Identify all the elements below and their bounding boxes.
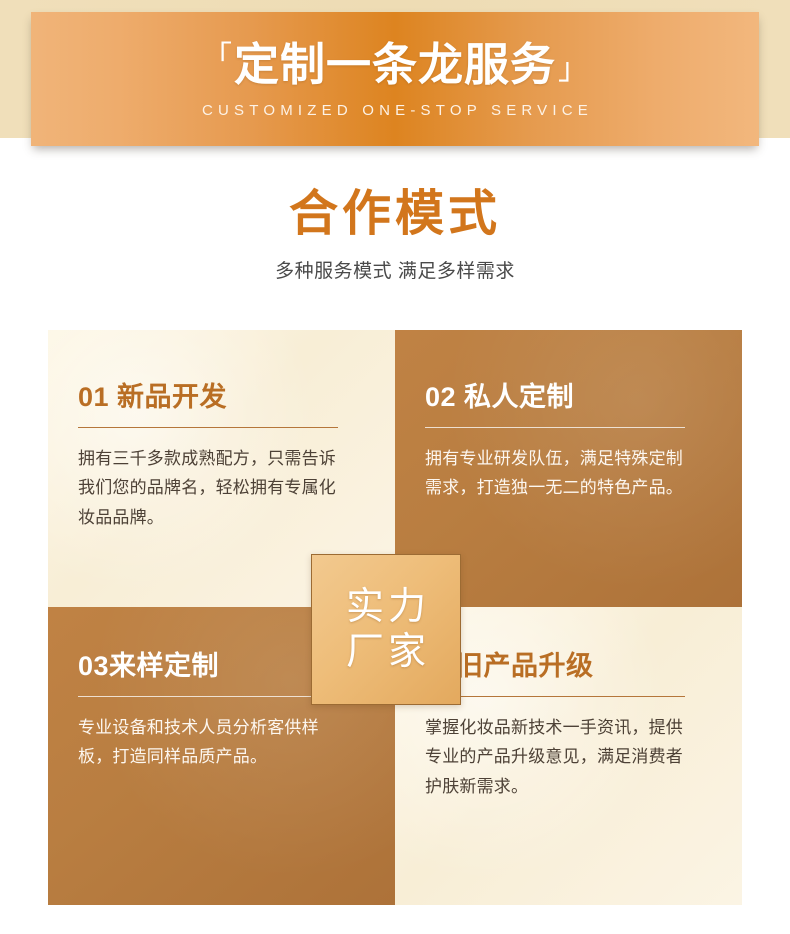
mode-card-01-divider	[78, 427, 338, 428]
hero-banner: 「 定制一条龙服务 」 CUSTOMIZED ONE-STOP SERVICE	[0, 0, 790, 160]
mode-card-03-body: 专业设备和技术人员分析客供样板，打造同样品质产品。	[78, 713, 348, 771]
mode-card-01-title: 01 新品开发	[78, 382, 365, 413]
mode-card-02-body: 拥有专业研发队伍，满足特殊定制需求，打造独一无二的特色产品。	[425, 444, 695, 502]
section-header: 合作模式 多种服务模式 满足多样需求	[0, 160, 790, 283]
mode-card-04-title: 04旧产品升级	[425, 651, 712, 682]
page-title: 合作模式	[0, 188, 790, 242]
mode-card-02-title: 02 私人定制	[425, 382, 712, 413]
mode-card-04-body: 掌握化妆品新技术一手资讯，提供专业的产品升级意见，满足消费者护肤新需求。	[425, 713, 695, 801]
mode-card-03-divider	[78, 696, 338, 697]
cooperation-modes-grid: 01 新品开发 拥有三千多款成熟配方，只需告诉我们您的品牌名，轻松拥有专属化妆品…	[48, 330, 742, 905]
banner-subtitle: CUSTOMIZED ONE-STOP SERVICE	[197, 102, 593, 119]
page-subtitle: 多种服务模式 满足多样需求	[0, 256, 790, 283]
mode-card-02-divider	[425, 427, 685, 428]
mode-card-01-body: 拥有三千多款成熟配方，只需告诉我们您的品牌名，轻松拥有专属化妆品品牌。	[78, 444, 348, 532]
banner-gradient-panel: 「 定制一条龙服务 」 CUSTOMIZED ONE-STOP SERVICE	[31, 12, 759, 146]
corner-bracket-right-icon: 」	[558, 55, 588, 85]
corner-bracket-left-icon: 「	[202, 43, 232, 73]
center-badge: 实力 厂家	[311, 554, 461, 705]
banner-title: 定制一条龙服务	[234, 41, 556, 88]
banner-title-row: 「 定制一条龙服务 」	[202, 41, 588, 88]
center-badge-line-2: 厂家	[342, 630, 430, 675]
mode-card-04-divider	[425, 696, 685, 697]
center-badge-line-1: 实力	[342, 585, 430, 630]
